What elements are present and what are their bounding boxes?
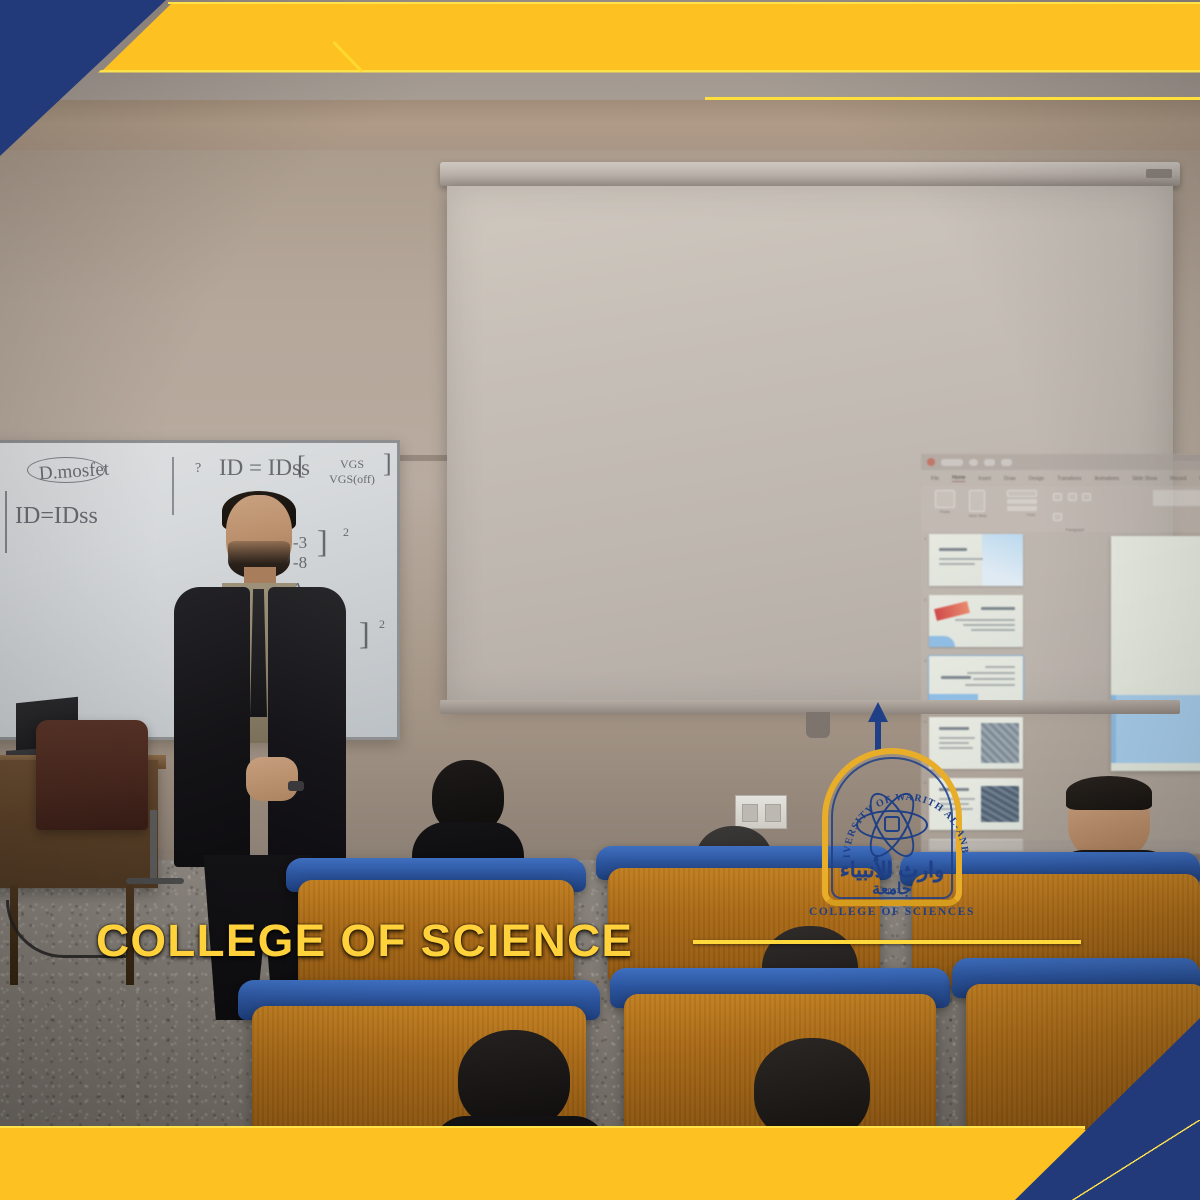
pen-nib-icon	[868, 702, 888, 746]
top-diagonal-accent	[330, 70, 362, 102]
whiteboard-frac-num-vgs: VGS	[323, 457, 381, 472]
whiteboard-bracket-5: ]	[359, 615, 370, 652]
audience-hair	[1066, 776, 1152, 810]
projector-screen-case	[440, 162, 1180, 186]
top-yellow-band	[0, 3, 1200, 72]
presenter-jacket-right	[268, 587, 346, 867]
top-horizontal-rule	[705, 97, 1200, 100]
whiteboard-bracket-1: [	[297, 451, 306, 481]
university-logo: UNIVERSITY OF WARITH AL-ANBIYA وارث الأن…	[808, 724, 976, 930]
tab-slide-show[interactable]: Slide Show	[1132, 476, 1157, 482]
redo-icon[interactable]	[1001, 459, 1012, 466]
ribbon-label-drawing: Drawing	[1153, 507, 1200, 512]
slide-thumbnail-number: 1	[924, 536, 926, 541]
wall-socket-outlet-right	[765, 804, 781, 822]
projection-screen: ورشة عمل بمناسبة اليوم العالمي للمرأة - …	[447, 186, 1173, 706]
tab-draw[interactable]: Draw	[1004, 476, 1016, 482]
title-underline-rule	[693, 940, 1081, 944]
tab-home[interactable]: Home	[952, 475, 965, 482]
whiteboard-bracket-2: ]	[383, 449, 392, 479]
slide-thumbnail[interactable]: 2	[929, 595, 1023, 647]
tab-animations[interactable]: Animations	[1094, 476, 1119, 482]
top-left-navy-triangle	[0, 0, 166, 156]
ribbon-group-paste[interactable]: Paste	[935, 490, 955, 514]
logo-caption: COLLEGE OF SCIENCES	[808, 906, 976, 918]
active-slide[interactable]: / محاور الورشة مقدمة عامة خلفية تاريخية …	[1111, 536, 1200, 771]
tab-transitions[interactable]: Transitions	[1057, 476, 1081, 482]
save-icon[interactable]	[969, 459, 978, 466]
ribbon-group-font[interactable]: Font	[1007, 490, 1055, 517]
projector-screen-cap	[1146, 169, 1172, 178]
tab-record[interactable]: Record	[1170, 476, 1186, 482]
whiteboard-frac-den-vgs: VGS(off)	[323, 472, 381, 487]
logo-year: 2023	[830, 888, 954, 895]
logo-shield: UNIVERSITY OF WARITH AL-ANBIYA وارث الأن…	[822, 748, 962, 924]
powerpoint-logo-icon	[927, 458, 935, 466]
poster-canvas: D.mosfet ID=IDss E.mosfet )² 2 ? ID = ID…	[0, 0, 1200, 1200]
slide-thumbnail-number: 2	[924, 597, 926, 602]
office-chair	[36, 720, 148, 830]
page-title: COLLEGE OF SCIENCE	[96, 915, 633, 967]
presenter-jacket-left	[174, 587, 250, 867]
ribbon-label-paste: Paste	[935, 509, 955, 514]
audience-head	[458, 1030, 570, 1130]
bottom-right-triangle-edge	[1070, 1120, 1200, 1200]
ribbon-group-paragraph[interactable]: Paragraph	[1053, 490, 1097, 532]
top-band-highlight-lower	[98, 70, 1200, 73]
slide-thumbnail[interactable]: 1	[929, 534, 1023, 586]
atom-icon	[856, 786, 928, 858]
autosave-toggle[interactable]	[941, 459, 963, 466]
audience-member	[418, 760, 518, 870]
whiteboard-note-dmosfet: D.mosfet	[38, 459, 110, 486]
presenter-hands	[246, 757, 298, 801]
top-band-highlight-upper	[168, 2, 1200, 4]
chair-stem	[150, 810, 157, 882]
whiteboard-note-question: ?	[195, 461, 201, 477]
tab-design[interactable]: Design	[1029, 476, 1045, 482]
powerpoint-titlebar: ورشة عمل بمناسبة اليوم العالمي للمرأة - …	[921, 454, 1200, 470]
ribbon-tab-bar: File Home Insert Draw Design Transitions…	[921, 472, 1200, 485]
whiteboard-exponent-2: 2	[379, 617, 385, 632]
ribbon: Paste New Slide Font	[921, 486, 1200, 532]
presenter-wristwatch	[288, 781, 304, 791]
tab-insert[interactable]: Insert	[978, 476, 991, 482]
whiteboard-divider-1	[5, 491, 7, 553]
ribbon-group-new-slide[interactable]: New Slide	[969, 490, 987, 518]
whiteboard-note-id-idss: ID=IDss	[15, 503, 98, 530]
ribbon-label-paragraph: Paragraph	[1053, 527, 1097, 532]
slide-heading: محاور الورشة	[1161, 618, 1200, 636]
wall-socket-outlet-left	[742, 804, 758, 822]
slide-thumbnail-number: 3	[924, 658, 926, 663]
wall-socket	[735, 795, 787, 829]
ribbon-label-new-slide: New Slide	[969, 513, 987, 518]
ribbon-label-font: Font	[1007, 512, 1055, 517]
whiteboard-fraction-vgs: VGS VGS(off)	[323, 457, 381, 487]
tab-file[interactable]: File	[931, 476, 939, 482]
document-title: ورشة عمل بمناسبة اليوم العالمي للمرأة - …	[1018, 459, 1200, 465]
ribbon-group-drawing[interactable]: Drawing	[1153, 490, 1200, 512]
undo-icon[interactable]	[984, 459, 995, 466]
logo-arabic-primary: وارث الأنبياء	[830, 860, 954, 881]
